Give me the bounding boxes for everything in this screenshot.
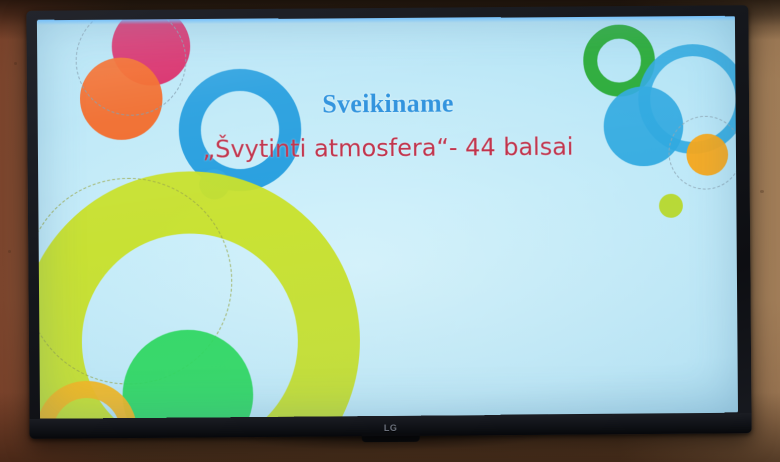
photo-scene: Sveikiname „Švytinti atmosfera“- 44 bals… bbox=[0, 0, 780, 462]
slide-title: Sveikiname bbox=[38, 88, 736, 121]
television: Sveikiname „Švytinti atmosfera“- 44 bals… bbox=[26, 5, 751, 439]
wall-texture-speck bbox=[760, 190, 764, 193]
presentation-slide: Sveikiname „Švytinti atmosfera“- 44 bals… bbox=[37, 16, 738, 419]
tv-screen-area: Sveikiname „Švytinti atmosfera“- 44 bals… bbox=[37, 16, 738, 419]
wall-texture-speck bbox=[14, 62, 17, 65]
tv-drop-shadow bbox=[231, 435, 551, 452]
slide-subtitle: „Švytinti atmosfera“- 44 balsai bbox=[38, 132, 736, 165]
yellow-green-dot bbox=[659, 194, 683, 218]
slide-decorations bbox=[37, 16, 738, 419]
tv-bezel: Sveikiname „Švytinti atmosfera“- 44 bals… bbox=[26, 5, 751, 439]
wall-texture-speck bbox=[8, 250, 11, 253]
lg-brand-logo: LG bbox=[384, 423, 398, 433]
slide-text-block: Sveikiname „Švytinti atmosfera“- 44 bals… bbox=[38, 88, 736, 165]
